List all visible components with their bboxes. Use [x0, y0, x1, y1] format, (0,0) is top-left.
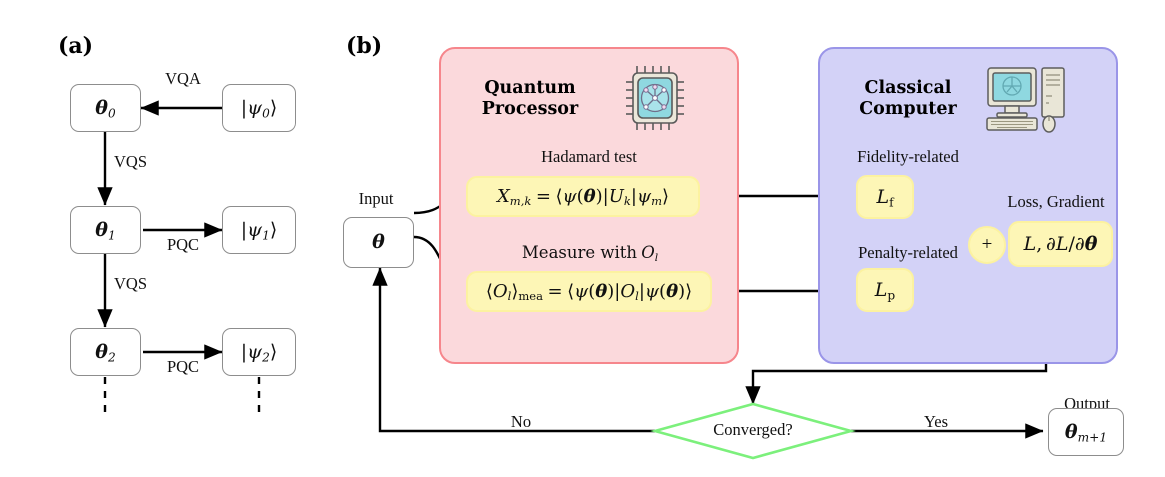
edge-label-vqa: VQA — [152, 69, 214, 89]
box-psi-0-label: |ψ0⟩ — [241, 97, 277, 120]
edge-label-vqs-2: VQS — [114, 274, 170, 294]
loss-gradient-box: L, ∂L/∂θ — [1008, 221, 1113, 267]
box-psi-1-label: |ψ1⟩ — [241, 219, 277, 242]
box-psi-0: |ψ0⟩ — [222, 84, 296, 132]
sum-node-label: + — [982, 234, 993, 256]
box-psi-2: |ψ2⟩ — [222, 328, 296, 376]
output-theta-box: θm+1 — [1048, 408, 1124, 456]
box-psi-1: |ψ1⟩ — [222, 206, 296, 254]
input-theta-box: θ — [343, 217, 414, 268]
measure-formula: ⟨Ol⟩mea = ⟨ψ(θ)|Ol|ψ(θ)⟩ — [486, 281, 692, 302]
box-theta-2: θ2 — [70, 328, 141, 376]
box-theta-2-label: θ2 — [95, 341, 115, 364]
measure-caption: Measure with Ol — [480, 243, 700, 263]
sum-node: + — [968, 226, 1006, 264]
hadamard-test-caption: Hadamard test — [489, 147, 689, 167]
loss-gradient-caption: Loss, Gradient — [991, 192, 1121, 212]
loss-fidelity-box: Lf — [856, 175, 914, 219]
edge-label-pqc-2: PQC — [152, 357, 214, 377]
hadamard-formula-box: Xm,k = ⟨ψ(θ)|Uk|ψm⟩ — [466, 176, 700, 217]
input-label: Input — [338, 189, 414, 209]
quantum-title-line1: Quantum — [465, 78, 595, 99]
decision-no-label: No — [498, 412, 544, 432]
edge-label-pqc-1: PQC — [152, 235, 214, 255]
box-theta-1: θ1 — [70, 206, 141, 254]
loss-penalty-label: Lp — [875, 279, 895, 302]
quantum-title-line2: Processor — [465, 99, 595, 120]
decision-label: Converged? — [693, 420, 813, 440]
classical-title-line1: Classical — [843, 78, 973, 99]
desktop-computer-icon — [985, 60, 1069, 134]
classical-computer-title: Classical Computer — [843, 78, 973, 119]
input-theta-label: θ — [372, 231, 385, 254]
loss-fidelity-label: Lf — [876, 186, 893, 209]
box-theta-1-label: θ1 — [95, 219, 115, 242]
figure-root: (a) θ0 |ψ0⟩ θ1 |ψ1⟩ θ2 |ψ2⟩ VQA VQS VQS … — [0, 0, 1165, 477]
decision-yes-label: Yes — [913, 412, 959, 432]
fidelity-related-caption: Fidelity-related — [808, 147, 1008, 167]
quantum-processor-title: Quantum Processor — [465, 78, 595, 119]
measure-formula-box: ⟨Ol⟩mea = ⟨ψ(θ)|Ol|ψ(θ)⟩ — [466, 271, 712, 312]
panel-a-label: (a) — [58, 33, 93, 59]
loss-penalty-box: Lp — [856, 268, 914, 312]
loss-gradient-formula: L, ∂L/∂θ — [1024, 233, 1098, 256]
box-theta-0: θ0 — [70, 84, 141, 132]
hadamard-formula: Xm,k = ⟨ψ(θ)|Uk|ψm⟩ — [497, 186, 669, 207]
box-theta-0-label: θ0 — [95, 97, 115, 120]
qpu-chip-icon — [622, 62, 688, 134]
box-psi-2-label: |ψ2⟩ — [241, 341, 277, 364]
edge-label-vqs-1: VQS — [114, 152, 170, 172]
panel-b-label: (b) — [346, 33, 382, 59]
output-theta-label: θm+1 — [1065, 421, 1107, 444]
classical-title-line2: Computer — [843, 99, 973, 120]
